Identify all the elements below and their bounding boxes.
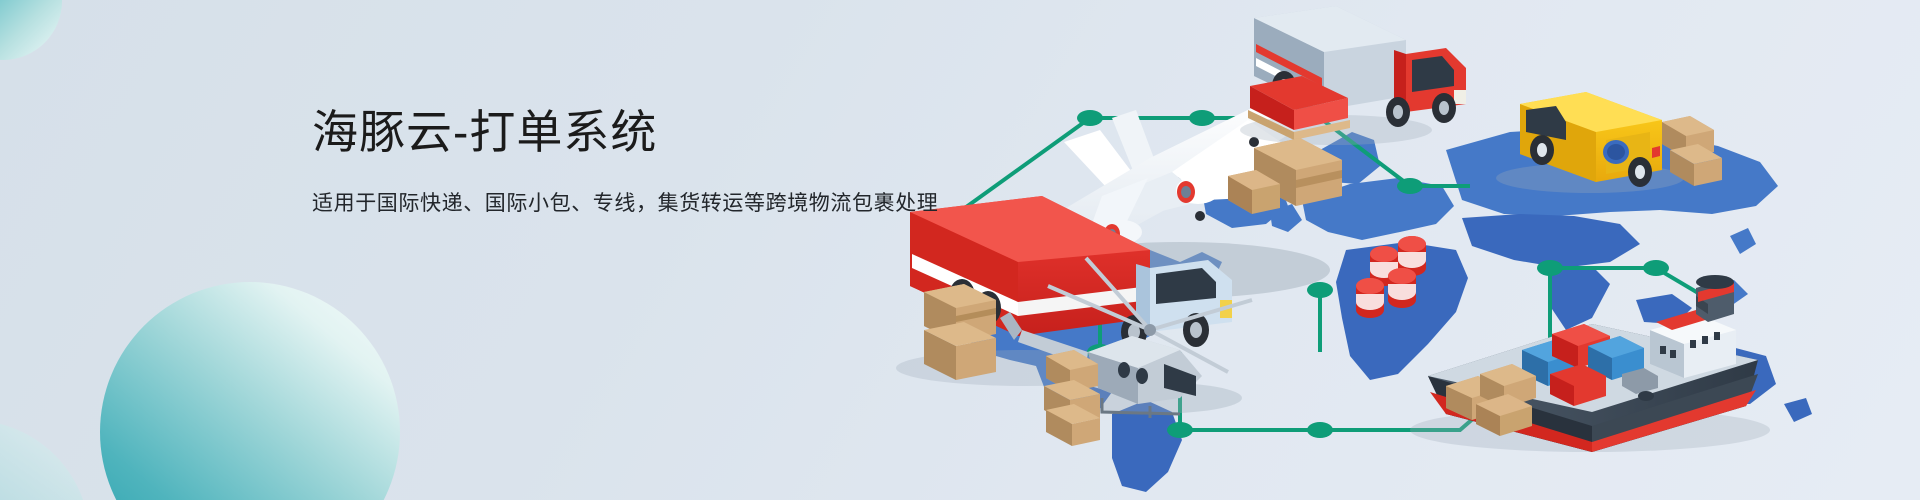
world-map: [955, 128, 1812, 492]
red-barrels: [1356, 236, 1426, 318]
cargo-ship: [1410, 275, 1770, 452]
red-pallet-goods: [1248, 76, 1350, 140]
decorative-circle-bottom-left: [100, 282, 400, 500]
cardboard-boxes-right: [1228, 138, 1342, 214]
hero-banner: 海豚云-打单系统 适用于国际快递、国际小包、专线，集货转运等跨境物流包裹处理: [0, 0, 1920, 500]
delivery-truck: [1240, 6, 1466, 145]
engine-front: [1176, 176, 1220, 204]
illustration-global-logistics: [850, 0, 1920, 500]
network-node-dots: [949, 110, 1723, 438]
deck-crates: [1446, 364, 1536, 436]
airplane: [1030, 96, 1330, 298]
hero-text-block: 海豚云-打单系统 适用于国际快递、国际小包、专线，集货转运等跨境物流包裹处理: [312, 104, 938, 219]
decorative-circle-bottom-left-soft: [0, 420, 90, 500]
yellow-van: [1496, 92, 1722, 193]
page-title: 海豚云-打单系统: [312, 104, 938, 162]
page-subtitle: 适用于国际快递、国际小包、专线，集货转运等跨境物流包裹处理: [312, 188, 938, 220]
engine-rear: [1102, 220, 1142, 244]
cardboard-boxes-helicopter: [1044, 350, 1100, 446]
cardboard-boxes: [924, 284, 996, 380]
network-nodes: [962, 118, 1710, 430]
ship-bridge: [1650, 310, 1736, 378]
helicopter: [1000, 258, 1252, 418]
shipping-containers: [1522, 324, 1644, 406]
semi-truck: [896, 196, 1232, 386]
decorative-circle-top-left: [0, 0, 62, 60]
